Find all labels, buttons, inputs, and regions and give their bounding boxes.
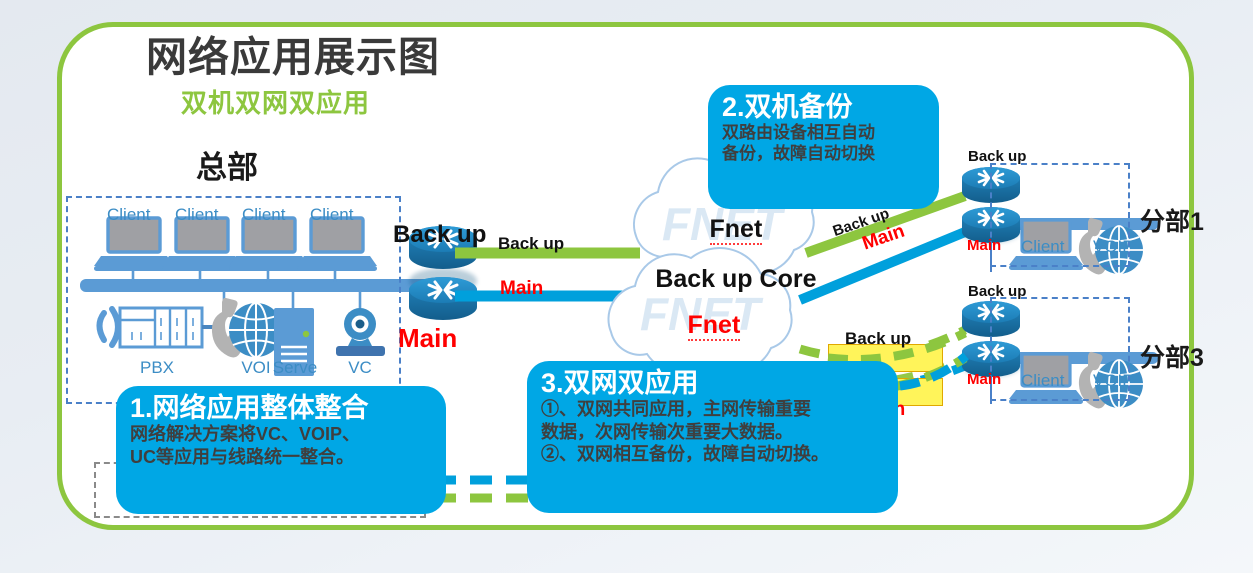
branch3-voip-label: VOIP [1093, 372, 1127, 389]
backup-core-cloud-line1: Fnet [710, 215, 763, 245]
hq-router-main-label: Main [398, 325, 457, 352]
branch3-client-label: Client [1021, 372, 1059, 389]
branch1-router-backup-label: Back up [968, 149, 1026, 165]
callout-2-head: 2.双机备份 [722, 92, 925, 122]
callout-1[interactable]: 1.网络应用整体整合 网络解决方案将VC、VOIP、 UC等应用与线路统一整合。 [116, 386, 446, 514]
diagram-canvas: FNET FNET [0, 0, 1253, 573]
callout-1-body: 网络解决方案将VC、VOIP、 UC等应用与线路统一整合。 [130, 423, 432, 468]
callout-1-head: 1.网络应用整体整合 [130, 393, 432, 423]
link-label-hq-backup: Back up [498, 235, 564, 253]
link-label-branch3-backup: Back up [845, 330, 911, 348]
hq-title: 总部 [196, 152, 258, 185]
hq-client-label-2: Client [175, 206, 213, 223]
branch1-client-label: Client [1021, 238, 1059, 255]
branch3-title: 分部3 [1140, 345, 1204, 371]
callout-3-body: ①、双网共同应用，主网传输重要 数据，次网传输次重要大数据。 ②、双网相互备份，… [541, 398, 884, 466]
hq-device-label-serve: Serve [266, 359, 324, 377]
hq-router-backup-label: Back up [393, 222, 486, 247]
callout-2[interactable]: 2.双机备份 双路由设备相互自动 备份，故障自动切换 [708, 85, 939, 209]
branch3-router-backup-label: Back up [968, 284, 1026, 300]
hq-device-label-pbx: PBX [131, 359, 183, 377]
callout-2-body: 双路由设备相互自动 备份，故障自动切换 [722, 122, 925, 165]
branch1-router-main-label: Main [967, 238, 1001, 254]
hq-client-label-3: Client [242, 206, 280, 223]
page-title: 网络应用展示图 [146, 36, 440, 79]
branch1-voip-label: VOIP [1093, 238, 1127, 255]
main-core-cloud-line1: Fnet [688, 311, 741, 341]
hq-client-label-4: Client [310, 206, 348, 223]
branch1-title: 分部1 [1140, 209, 1204, 235]
callout-3[interactable]: 3.双网双应用 ①、双网共同应用，主网传输重要 数据，次网传输次重要大数据。 ②… [527, 361, 898, 513]
branch3-router-main-label: Main [967, 372, 1001, 388]
page-subtitle: 双机双网双应用 [181, 90, 370, 117]
link-label-hq-main: Main [500, 279, 543, 299]
hq-client-label-1: Client [107, 206, 145, 223]
callout-3-head: 3.双网双应用 [541, 368, 884, 398]
hq-device-label-vc: VC [339, 359, 381, 377]
